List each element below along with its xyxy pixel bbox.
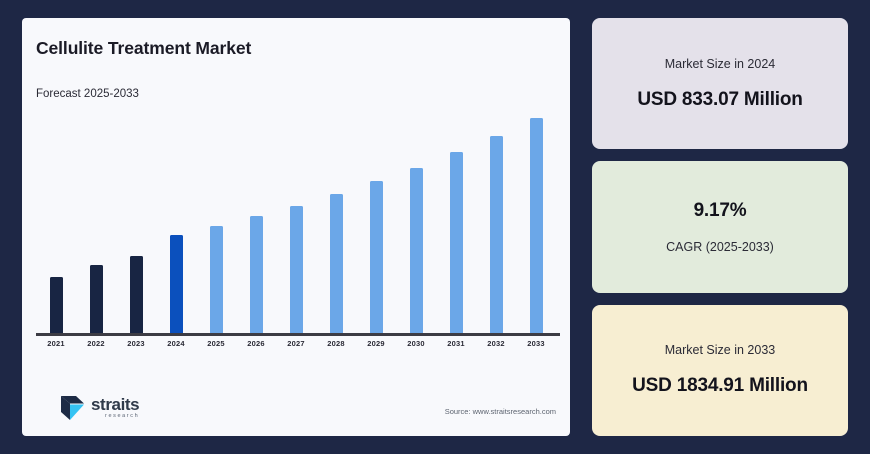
market-infographic: Cellulite Treatment Market Forecast 2025… [0, 0, 870, 454]
x-axis-line [36, 333, 560, 336]
logo-text: straits research [91, 396, 139, 420]
stat-card-label: Market Size in 2024 [665, 57, 775, 71]
logo-arrow-icon [60, 394, 86, 422]
bar-slot [476, 110, 516, 333]
bar-2024 [170, 235, 183, 333]
stat-card-label: Market Size in 2033 [665, 343, 775, 357]
page-title: Cellulite Treatment Market [36, 38, 251, 59]
bar-slot [236, 110, 276, 333]
stat-card-value: 9.17% [694, 200, 747, 222]
bar-2025 [210, 226, 223, 333]
x-axis-label-2029: 2029 [356, 339, 396, 348]
bar-2028 [330, 194, 343, 333]
bar-slot [36, 110, 76, 333]
bar-slot [196, 110, 236, 333]
stat-cards: Market Size in 2024USD 833.07 Million9.1… [592, 18, 848, 436]
bar-chart-plot [36, 110, 556, 333]
x-axis-label-2022: 2022 [76, 339, 116, 348]
stat-card-3: Market Size in 2033USD 1834.91 Million [592, 305, 848, 436]
x-axis-label-2026: 2026 [236, 339, 276, 348]
x-axis-label-2024: 2024 [156, 339, 196, 348]
bar-2022 [90, 265, 103, 333]
stat-card-label: CAGR (2025-2033) [666, 240, 774, 254]
bar-2026 [250, 216, 263, 333]
bar-slot [436, 110, 476, 333]
x-axis-label-2032: 2032 [476, 339, 516, 348]
bar-2033 [530, 118, 543, 333]
x-axis-labels: 2021202220232024202520262027202820292030… [36, 339, 556, 348]
bar-2023 [130, 256, 143, 333]
bar-2029 [370, 181, 383, 333]
bar-slot [516, 110, 556, 333]
x-axis-label-2031: 2031 [436, 339, 476, 348]
stat-card-value: USD 833.07 Million [637, 89, 802, 111]
stat-card-1: Market Size in 2024USD 833.07 Million [592, 18, 848, 149]
bar-series [36, 110, 556, 333]
x-axis-label-2027: 2027 [276, 339, 316, 348]
x-axis-label-2030: 2030 [396, 339, 436, 348]
bar-2032 [490, 136, 503, 333]
chart-panel: Cellulite Treatment Market Forecast 2025… [22, 18, 570, 436]
logo-tagline: research [105, 414, 139, 420]
bar-2031 [450, 152, 463, 333]
straits-research-logo: straits research [60, 394, 139, 422]
bar-slot [116, 110, 156, 333]
bar-slot [76, 110, 116, 333]
stat-card-value: USD 1834.91 Million [632, 375, 808, 397]
bar-slot [316, 110, 356, 333]
bar-slot [356, 110, 396, 333]
chart-subtitle: Forecast 2025-2033 [36, 88, 139, 100]
bar-slot [156, 110, 196, 333]
bar-2021 [50, 277, 63, 333]
bar-2027 [290, 206, 303, 333]
source-attribution: Source: www.straitsresearch.com [445, 407, 556, 416]
x-axis-label-2023: 2023 [116, 339, 156, 348]
bar-slot [276, 110, 316, 333]
x-axis-label-2033: 2033 [516, 339, 556, 348]
stat-card-2: 9.17%CAGR (2025-2033) [592, 161, 848, 292]
x-axis-label-2028: 2028 [316, 339, 356, 348]
logo-wordmark: straits [91, 396, 139, 413]
x-axis-label-2025: 2025 [196, 339, 236, 348]
bar-slot [396, 110, 436, 333]
bar-2030 [410, 168, 423, 333]
x-axis-label-2021: 2021 [36, 339, 76, 348]
